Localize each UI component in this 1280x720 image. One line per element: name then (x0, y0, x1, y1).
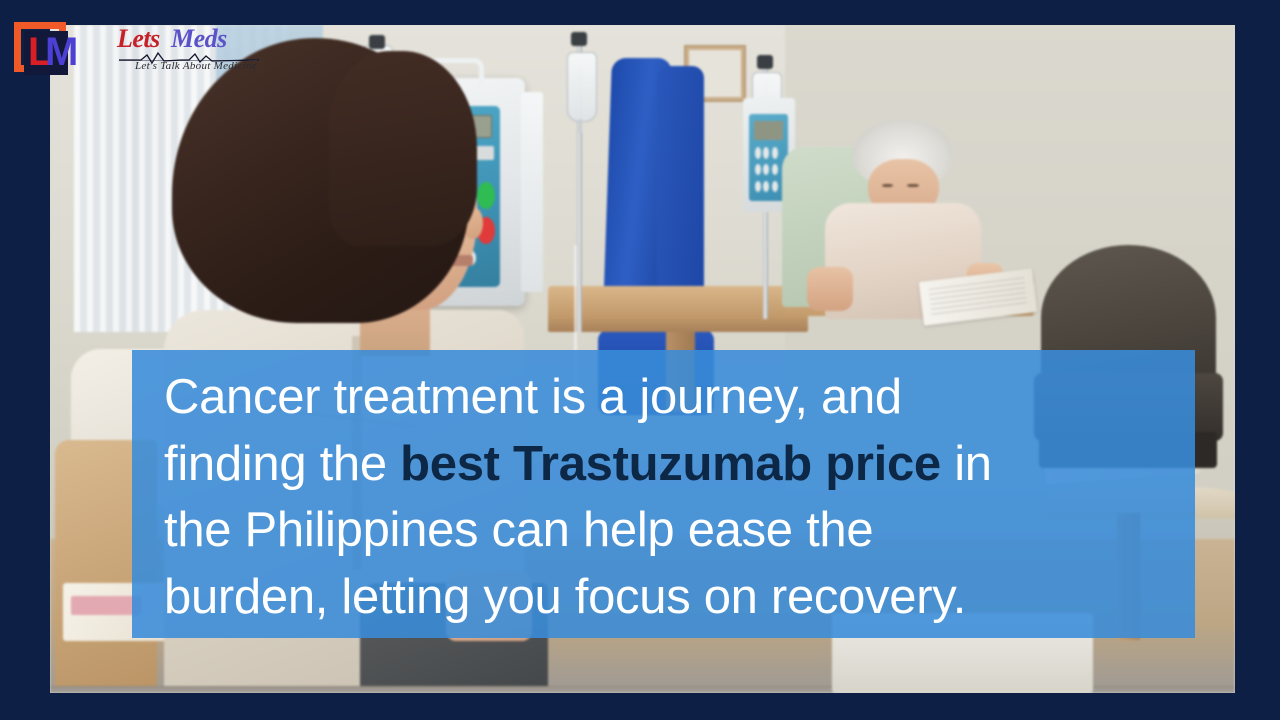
logo-mark-icon: L M (14, 22, 70, 76)
caption-overlay-box: Cancer treatment is a journey, andfindin… (132, 350, 1195, 638)
elderly-woman-reading-newspaper (814, 119, 992, 319)
pump-bg-display (754, 121, 783, 140)
caption-line-2-prefix: finding the (164, 437, 400, 491)
caption-highlight-phrase: best Trastuzumab price (400, 437, 941, 491)
video-frame: Cancer treatment is a journey, andfindin… (50, 25, 1235, 693)
pump-bg-keypad (755, 147, 778, 192)
iv-drip-bag-mid (567, 52, 597, 122)
logo-letter-m: M (45, 33, 78, 71)
logo-tagline: Let's Talk About Medicine (135, 60, 257, 72)
logo-wordmark: Lets Meds Let's Talk About Medicine (117, 24, 267, 74)
iv-pole-hook-mid (571, 32, 587, 46)
caption-line-2-suffix: in (941, 437, 992, 491)
woman-hair-fringe (329, 51, 478, 245)
letsmeds-logo[interactable]: L M Lets Meds Let's Talk About Medicine (12, 20, 262, 80)
caption-line-1: Cancer treatment is a journey, and (164, 370, 902, 424)
caption-text: Cancer treatment is a journey, andfindin… (164, 364, 1165, 631)
caption-line-3: the Philippines can help ease the (164, 503, 873, 557)
iv-pole-hook-right (757, 55, 773, 69)
logo-word-meds: Meds (171, 24, 227, 54)
wooden-table-middle (548, 286, 809, 333)
elderly-woman-arm (807, 267, 853, 311)
logo-word-lets: Lets (117, 24, 160, 54)
paper-stack-accent (71, 596, 141, 615)
caption-line-4: burden, letting you focus on recovery. (164, 570, 966, 624)
elderly-woman-eye-left (882, 184, 893, 188)
slide-stage: Cancer treatment is a journey, andfindin… (0, 0, 1280, 720)
elderly-woman-eye-right (907, 184, 918, 188)
